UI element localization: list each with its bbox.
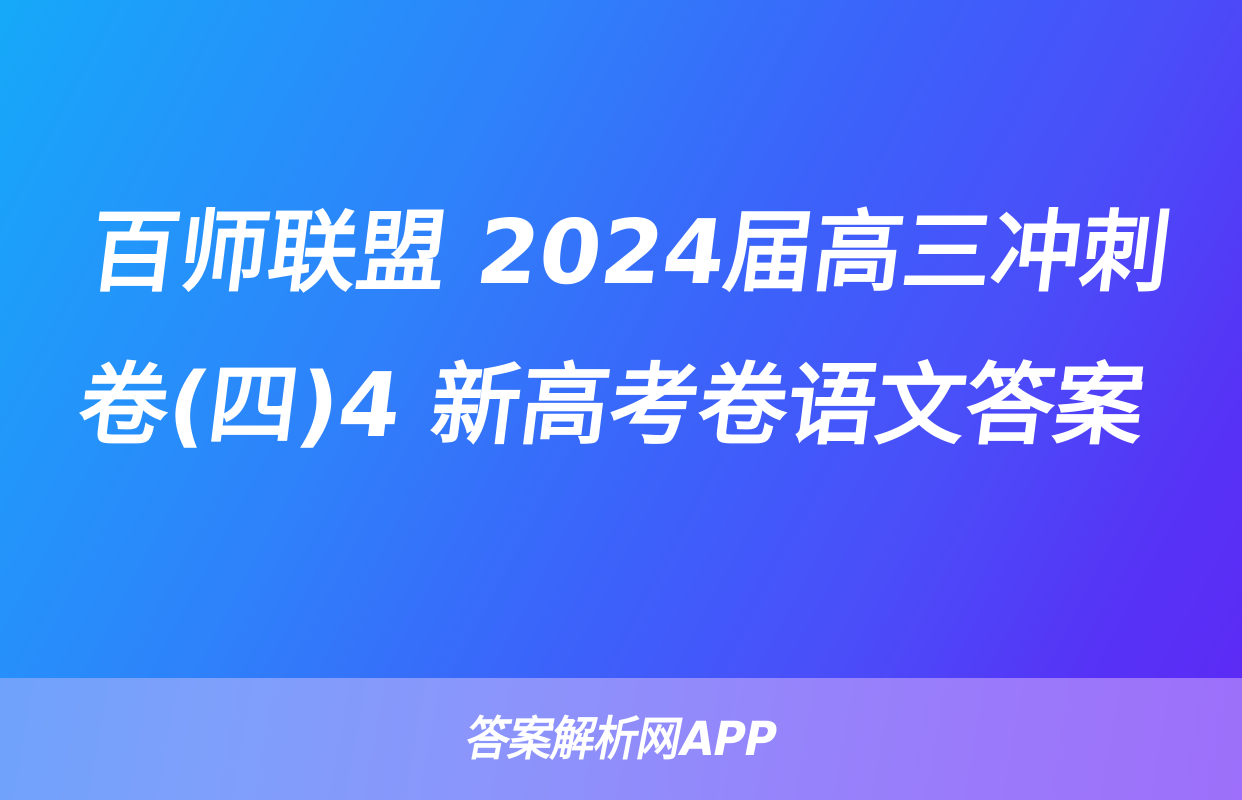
page-title: 百师联盟 2024届高三冲刺卷(四)4 新高考卷语文答案 (57, 176, 1185, 482)
hero-content: 百师联盟 2024届高三冲刺卷(四)4 新高考卷语文答案 (0, 0, 1242, 678)
watermark-app-label: 答案解析网APP (462, 716, 780, 763)
watermark-band: 答案解析网APP (0, 678, 1242, 800)
poster-container: 百师联盟 2024届高三冲刺卷(四)4 新高考卷语文答案 答案解析网APP (0, 0, 1242, 800)
